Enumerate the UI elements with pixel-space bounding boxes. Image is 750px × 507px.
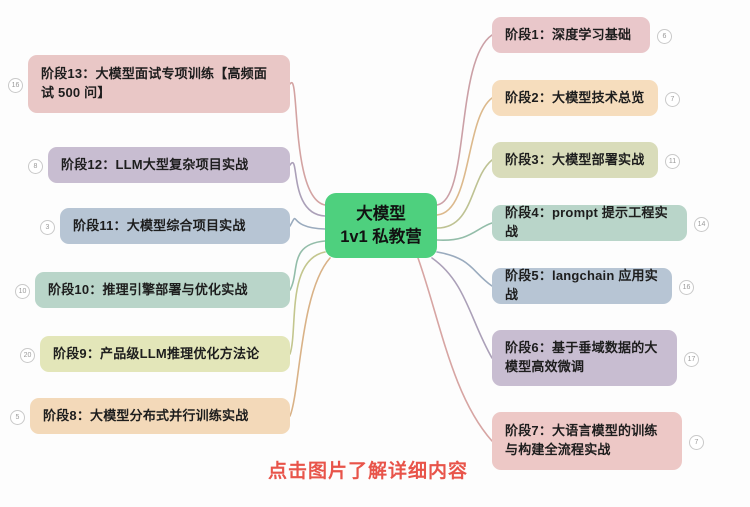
caption-text: 点击图片了解详细内容 <box>228 456 508 483</box>
branch-node[interactable]: 阶段12：LLM大型复杂项目实战 <box>48 147 290 183</box>
center-node-line1: 大模型 <box>356 203 406 225</box>
branch-badge: 16 <box>679 280 694 295</box>
branch-badge: 7 <box>665 92 680 107</box>
branch-node[interactable]: 阶段2：大模型技术总览 <box>492 80 658 116</box>
branch-badge: 20 <box>20 348 35 363</box>
branch-node-label: 阶段6：基于垂域数据的大模型高效微调 <box>505 339 664 377</box>
branch-node[interactable]: 阶段11：大模型综合项目实战 <box>60 208 290 244</box>
branch-node[interactable]: 阶段10：推理引擎部署与优化实战 <box>35 272 290 308</box>
center-node[interactable]: 大模型 1v1 私教营 <box>325 193 437 258</box>
branch-node-label: 阶段11：大模型综合项目实战 <box>73 217 246 236</box>
branch-badge: 6 <box>657 29 672 44</box>
branch-badge: 5 <box>10 410 25 425</box>
branch-node-label: 阶段13：大模型面试专项训练【高频面试 500 问】 <box>41 65 277 103</box>
branch-node-label: 阶段1：深度学习基础 <box>505 26 631 45</box>
branch-node[interactable]: 阶段7：大语言模型的训练与构建全流程实战 <box>492 412 682 470</box>
center-node-line2: 1v1 私教营 <box>340 226 422 248</box>
branch-badge: 3 <box>40 220 55 235</box>
branch-badge: 14 <box>694 217 709 232</box>
branch-node-label: 阶段7：大语言模型的训练与构建全流程实战 <box>505 422 669 460</box>
branch-node[interactable]: 阶段8：大模型分布式并行训练实战 <box>30 398 290 434</box>
branch-badge: 10 <box>15 284 30 299</box>
branch-node-label: 阶段2：大模型技术总览 <box>505 89 644 108</box>
branch-badge: 16 <box>8 78 23 93</box>
branch-node-label: 阶段10：推理引擎部署与优化实战 <box>48 281 248 300</box>
branch-node-label: 阶段9：产品级LLM推理优化方法论 <box>53 345 259 364</box>
branch-badge: 11 <box>665 154 680 169</box>
branch-node-label: 阶段8：大模型分布式并行训练实战 <box>43 407 248 426</box>
branch-node[interactable]: 阶段9：产品级LLM推理优化方法论 <box>40 336 290 372</box>
branch-node-label: 阶段12：LLM大型复杂项目实战 <box>61 156 248 175</box>
branch-node[interactable]: 阶段6：基于垂域数据的大模型高效微调 <box>492 330 677 386</box>
branch-node[interactable]: 阶段3：大模型部署实战 <box>492 142 658 178</box>
branch-badge: 17 <box>684 352 699 367</box>
branch-node-label: 阶段4：prompt 提示工程实战 <box>505 204 674 242</box>
branch-node[interactable]: 阶段5：langchain 应用实战 <box>492 268 672 304</box>
branch-badge: 7 <box>689 435 704 450</box>
branch-node-label: 阶段3：大模型部署实战 <box>505 151 644 170</box>
branch-badge: 8 <box>28 159 43 174</box>
branch-node[interactable]: 阶段4：prompt 提示工程实战 <box>492 205 687 241</box>
branch-node-label: 阶段5：langchain 应用实战 <box>505 267 659 305</box>
branch-node[interactable]: 阶段13：大模型面试专项训练【高频面试 500 问】 <box>28 55 290 113</box>
branch-node[interactable]: 阶段1：深度学习基础 <box>492 17 650 53</box>
mindmap-canvas: 大模型 1v1 私教营 阶段1：深度学习基础6阶段2：大模型技术总览7阶段3：大… <box>0 0 750 507</box>
